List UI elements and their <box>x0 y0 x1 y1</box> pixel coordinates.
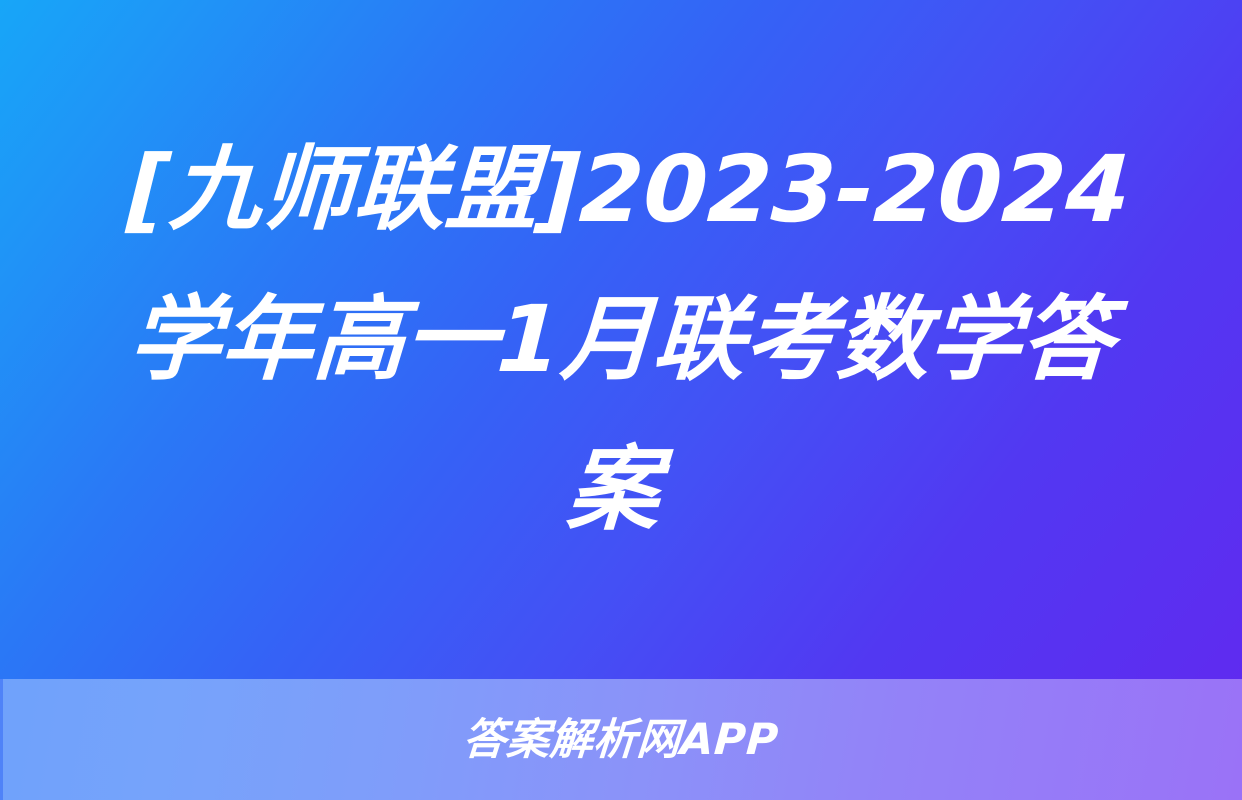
footer-band: 答案解析网APP <box>0 679 1242 800</box>
hero-banner: [九师联盟]2023-2024学年高一1月联考数学答案 <box>0 0 1242 679</box>
poster-container: [九师联盟]2023-2024学年高一1月联考数学答案 答案解析网APP <box>0 0 1242 800</box>
brand-watermark: 答案解析网APP <box>462 716 781 764</box>
page-title: [九师联盟]2023-2024学年高一1月联考数学答案 <box>92 115 1150 565</box>
